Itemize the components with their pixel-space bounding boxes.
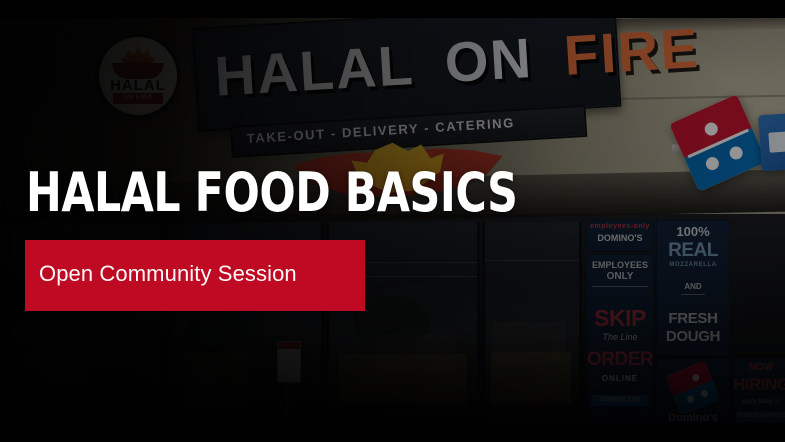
letterbox-bottom: [0, 425, 785, 442]
letterbox-top: [0, 0, 785, 18]
open-community-session-banner[interactable]: Open Community Session: [25, 240, 365, 311]
hero-overlay: HALAL FOOD BASICS Open Community Session: [0, 0, 785, 442]
page-title: HALAL FOOD BASICS: [26, 166, 517, 220]
open-community-session-label: Open Community Session: [39, 261, 355, 287]
hero-banner: employees-only DOMINO'S EMPLOYEES ONLY S…: [0, 0, 785, 442]
